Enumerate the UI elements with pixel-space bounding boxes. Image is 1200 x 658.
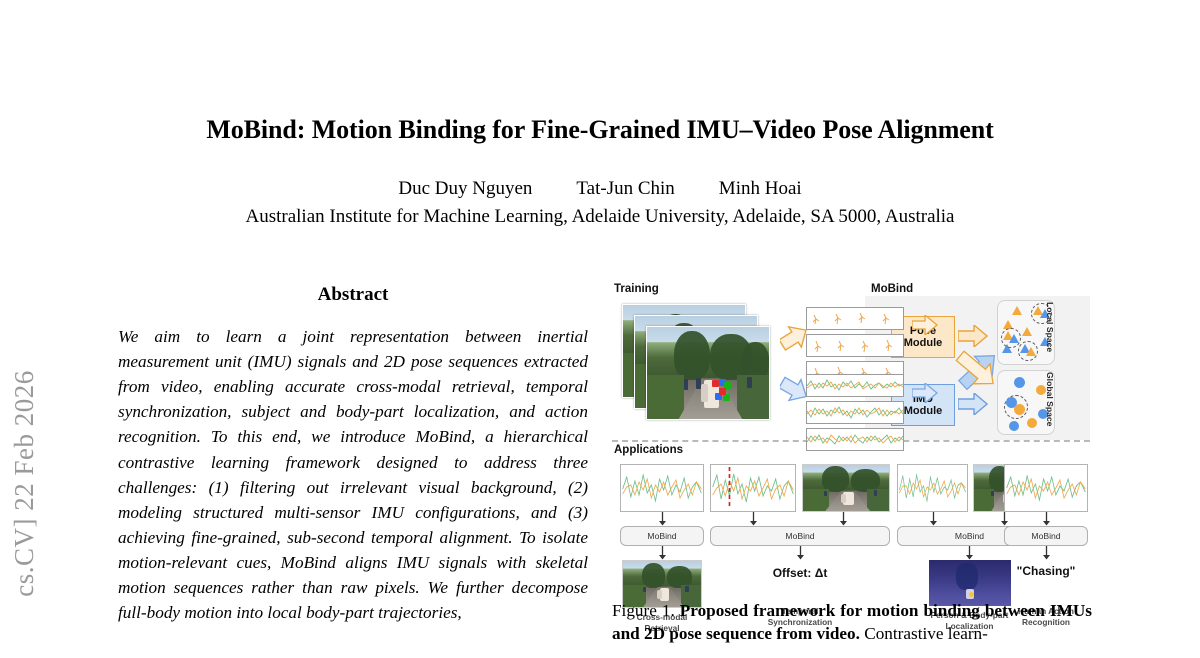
pose-strip (806, 307, 904, 330)
training-panel-label: Training (614, 283, 659, 295)
global-marker-circle (1014, 404, 1025, 415)
down-arrow-icon (1004, 512, 1088, 526)
local-space-label: Local Space (1045, 302, 1055, 352)
down-arrow-icon (796, 512, 890, 526)
app-signal-plot (710, 464, 796, 512)
imu-to-global-arrow-icon (958, 393, 988, 415)
pose-strips-to-module-arrow-icon (912, 315, 938, 335)
applications-panel-label: Applications (614, 444, 683, 456)
local-marker-triangle (1026, 347, 1036, 356)
pose-strip (806, 334, 904, 357)
global-marker-circle (1014, 377, 1025, 388)
mobind-pill: MoBind (710, 526, 890, 546)
local-marker-triangle (1022, 327, 1032, 336)
down-arrow-icon (620, 512, 704, 526)
global-marker-circle (1009, 421, 1019, 431)
author-3: Minh Hoai (719, 178, 802, 199)
abstract-body: We aim to learn a joint representation b… (118, 324, 588, 625)
mobind-panel-label: MoBind (871, 283, 913, 295)
abstract-heading: Abstract (118, 284, 588, 306)
imu-marker-red (719, 388, 726, 395)
page-title: MoBind: Motion Binding for Fine-Grained … (0, 115, 1200, 145)
figure-caption: Figure 1. Proposed framework for motion … (612, 600, 1092, 645)
video-frame-stack (622, 304, 772, 422)
app-output-text: "Chasing" (1004, 564, 1088, 578)
figure-training-panel: Training MoBind Pose Module IMU Module (612, 282, 1090, 442)
figure-caption-rest: Contrastive learn- (864, 624, 988, 643)
app-signal-plot (1004, 464, 1088, 512)
author-list: Duc Duy NguyenTat-Jun ChinMinh Hoai (0, 178, 1200, 200)
mobind-pill: MoBind (620, 526, 704, 546)
app-signal-plot (897, 464, 968, 512)
imu-module-label-line2: Module (904, 405, 943, 417)
pose-module-label-line2: Module (904, 337, 943, 349)
affiliation: Australian Institute for Machine Learnin… (0, 206, 1200, 228)
down-arrow-icon (897, 512, 969, 526)
figure-caption-number: Figure 1. (612, 601, 675, 620)
app-signal-plot (620, 464, 704, 512)
app-input-thumbnail (802, 464, 890, 512)
arxiv-stamp: cs.CV] 22 Feb 2026 (0, 318, 50, 658)
app-output-text: Offset: Δt (710, 566, 890, 580)
video-frame-front (646, 326, 770, 420)
cross-arrow-orange-icon (953, 344, 1001, 396)
arxiv-stamp-text: cs.CV] 22 Feb 2026 (9, 370, 40, 597)
imu-strip (806, 374, 904, 397)
figure-1: Training MoBind Pose Module IMU Module (612, 282, 1090, 592)
imu-marker-red (712, 380, 719, 387)
down-arrow-icon (710, 546, 890, 560)
author-2: Tat-Jun Chin (576, 178, 674, 199)
imu-marker-green (723, 394, 730, 401)
figure-column: Training MoBind Pose Module IMU Module (612, 282, 1090, 592)
author-1: Duc Duy Nguyen (398, 178, 532, 199)
figure-applications-panel: Applications MoBind (612, 442, 1090, 592)
down-arrow-icon (1004, 546, 1088, 560)
imu-strip (806, 401, 904, 424)
figure-caption-bold: Proposed framework for motion binding be… (612, 601, 1092, 643)
down-arrow-icon (620, 546, 704, 560)
local-marker-triangle (1009, 334, 1019, 343)
down-arrow-icon (710, 512, 796, 526)
local-marker-triangle (1012, 306, 1022, 315)
abstract-column: Abstract We aim to learn a joint represe… (118, 284, 588, 648)
global-space-label: Global Space (1045, 372, 1055, 426)
mobind-pill: MoBind (1004, 526, 1088, 546)
global-marker-circle (1027, 418, 1037, 428)
imu-strips-to-module-arrow-icon (912, 383, 938, 403)
